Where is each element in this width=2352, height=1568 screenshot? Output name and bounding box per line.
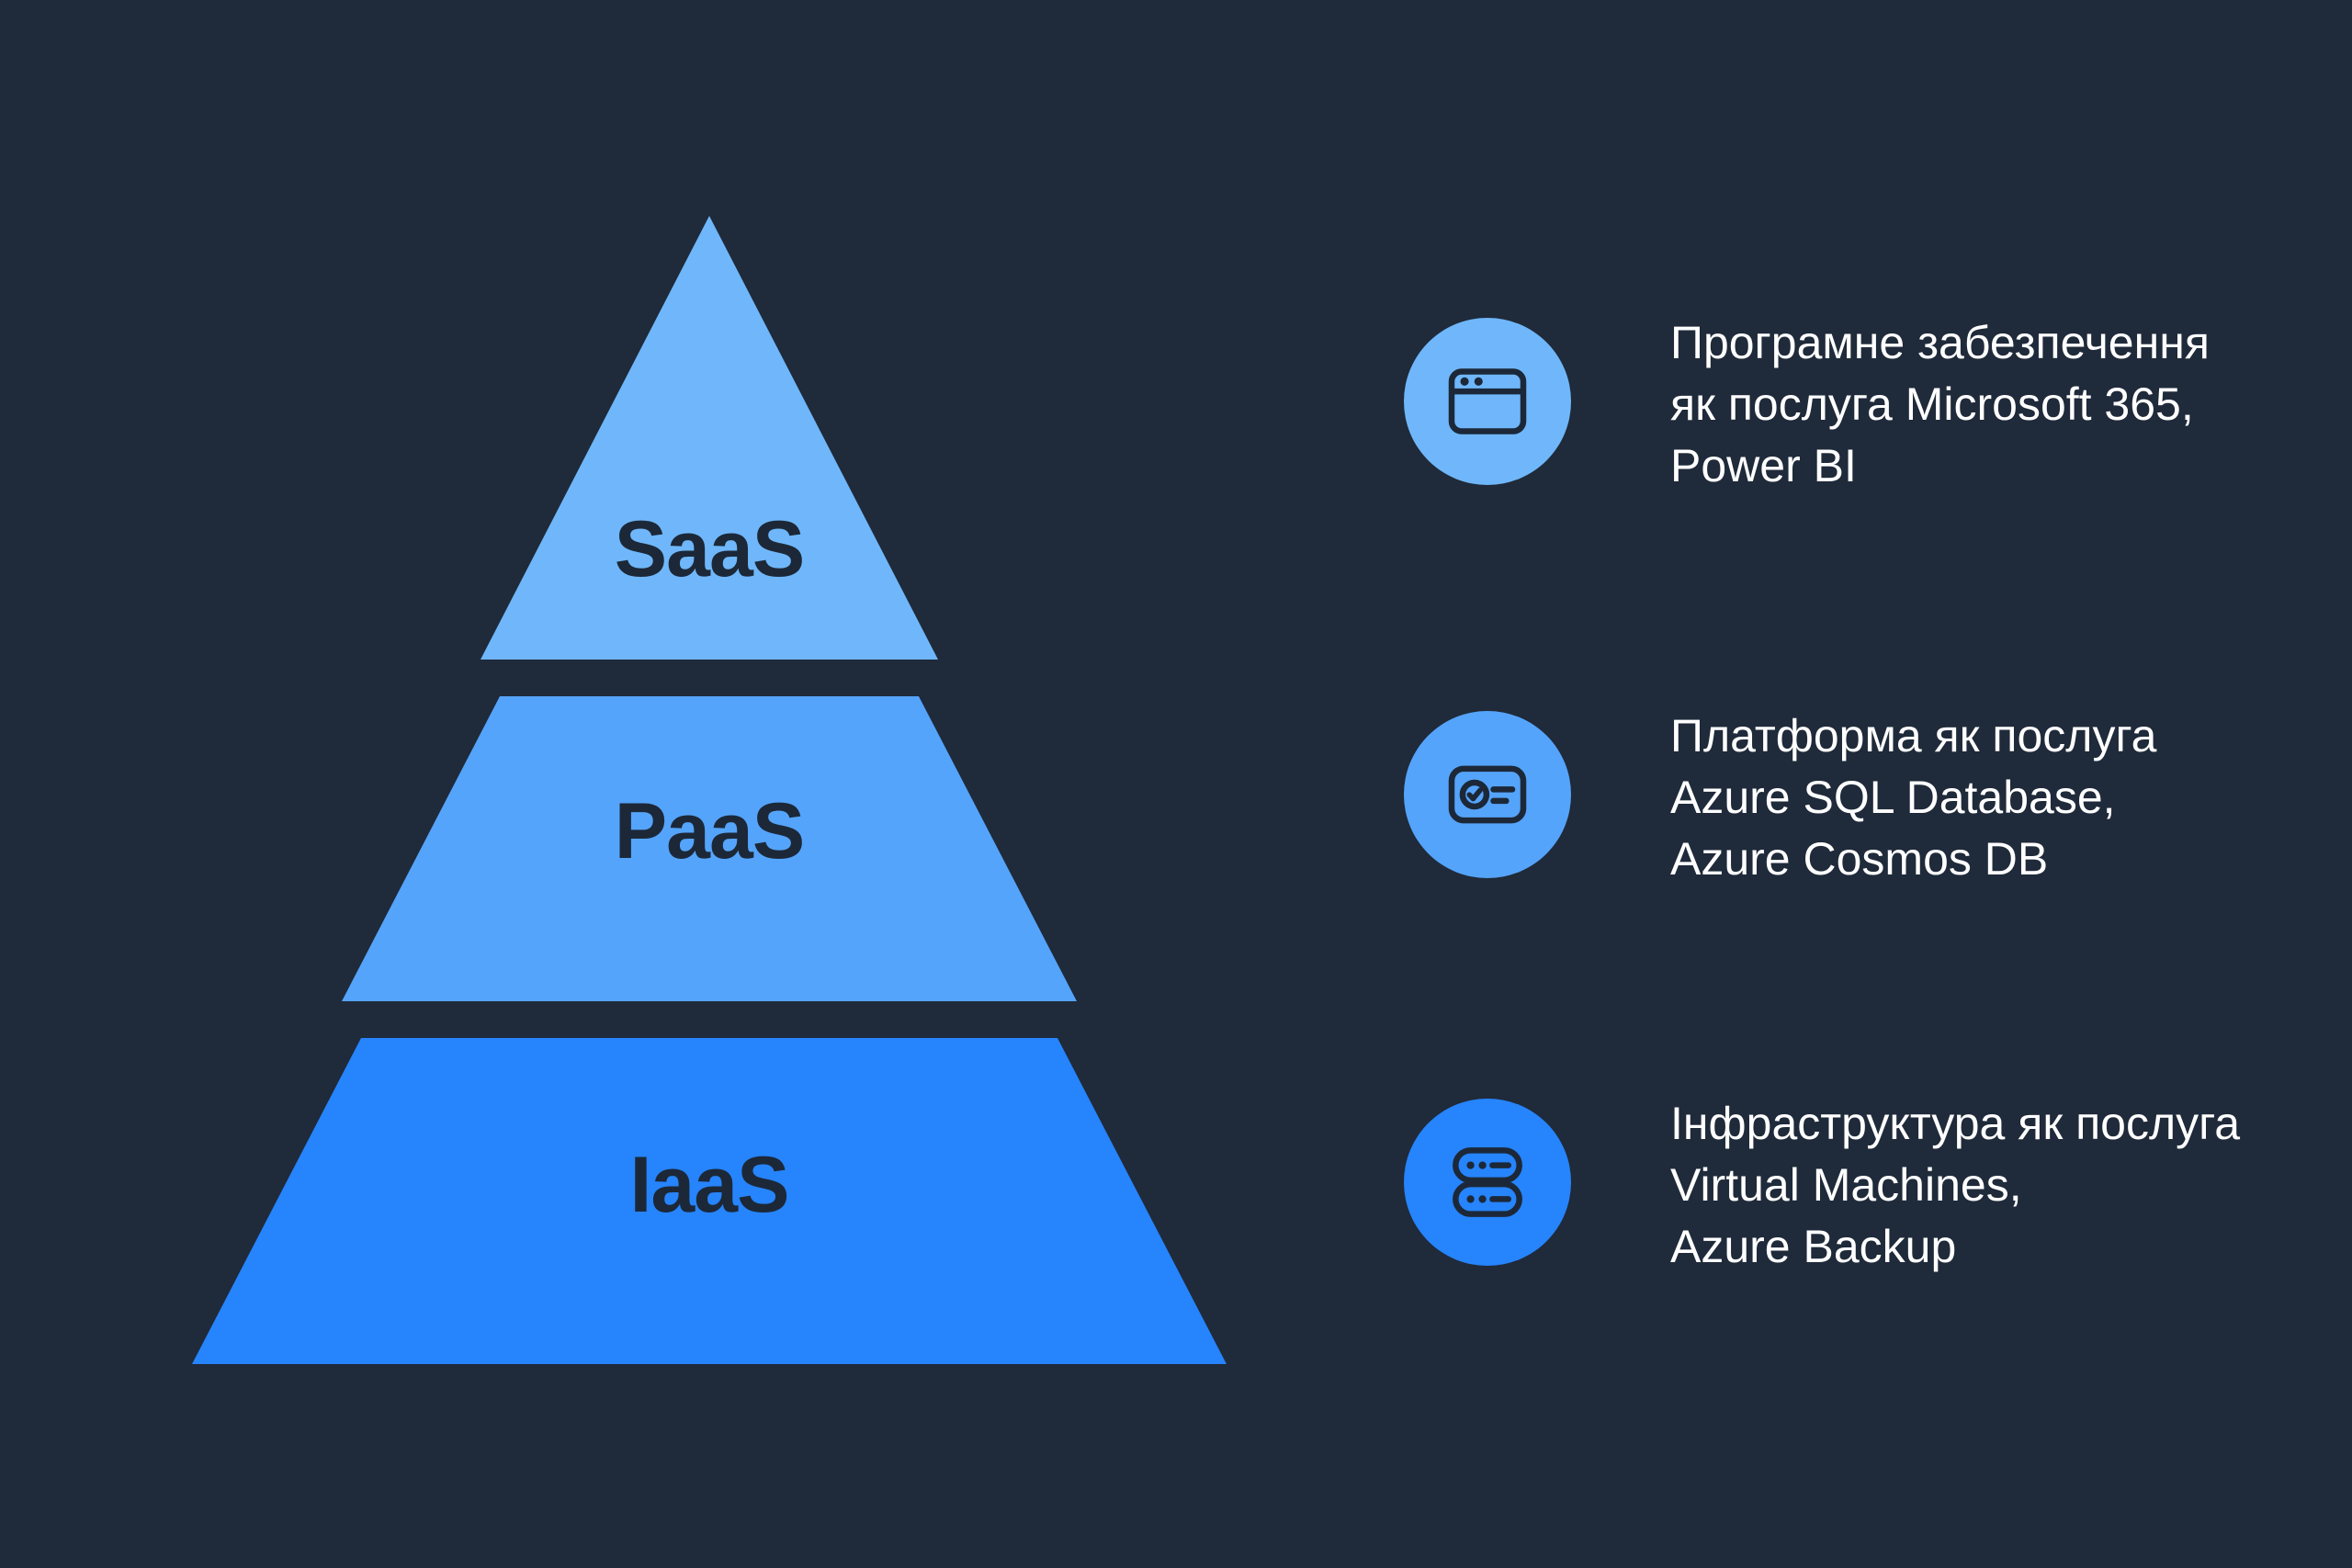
id-card-check-icon [1440, 747, 1535, 842]
legend-line: Azure SQL Database, [1670, 767, 2352, 829]
legend-line: Інфраструктура як послуга [1670, 1093, 2352, 1155]
legend-line: Azure Cosmos DB [1670, 829, 2352, 890]
legend-item-iaas[interactable]: Інфраструктура як послуга Virtual Machin… [1404, 1089, 2352, 1278]
legend-text-saas: Програмне забезпечення як послуга Micros… [1670, 309, 2352, 497]
legend-line: Azure Backup [1670, 1216, 2352, 1278]
legend-item-paas[interactable]: Платформа як послуга Azure SQL Database,… [1404, 702, 2352, 890]
legend-line: Virtual Machines, [1670, 1155, 2352, 1216]
legend-line: Power BI [1670, 435, 2352, 497]
legend-line: як послуга Microsoft 365, [1670, 374, 2352, 435]
pyramid-diagram: SaaS PaaS IaaS [0, 0, 1433, 1568]
legend-item-saas[interactable]: Програмне забезпечення як послуга Micros… [1404, 309, 2352, 497]
legend-icon-circle-iaas [1404, 1099, 1571, 1266]
legend-icon-circle-saas [1404, 318, 1571, 485]
legend-line: Програмне забезпечення [1670, 312, 2352, 374]
pyramid-tier-label-iaas: IaaS [0, 1139, 1426, 1231]
pyramid-tier-label-paas: PaaS [0, 785, 1426, 877]
diagram-canvas: SaaS PaaS IaaS Програмне забезпечення як… [0, 0, 2352, 1568]
legend-list: Програмне забезпечення як послуга Micros… [1404, 0, 2352, 1568]
browser-window-icon [1440, 354, 1535, 449]
pyramid-tier-label-saas: SaaS [0, 503, 1426, 595]
legend-line: Платформа як послуга [1670, 705, 2352, 767]
server-stack-icon [1440, 1134, 1535, 1230]
legend-text-paas: Платформа як послуга Azure SQL Database,… [1670, 702, 2352, 890]
legend-text-iaas: Інфраструктура як послуга Virtual Machin… [1670, 1089, 2352, 1278]
legend-icon-circle-paas [1404, 711, 1571, 878]
